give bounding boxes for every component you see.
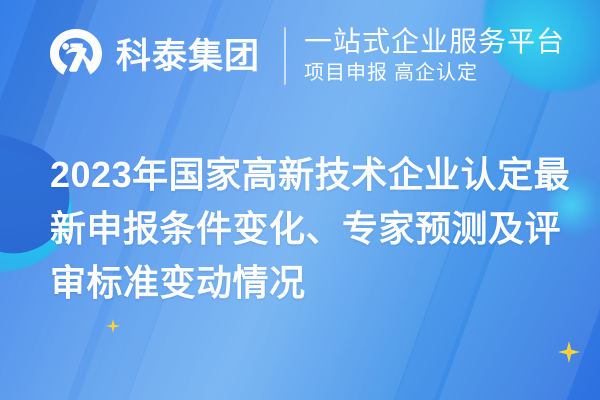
headline-line-3: 审标准变动情况 [50,256,570,310]
headline-line-1: 2023年国家高新技术企业认定最 [50,148,570,202]
tagline-sub: 项目申报 高企认定 [304,61,565,86]
promo-banner: 科泰集团 一站式企业服务平台 项目申报 高企认定 2023年国家高新技术企业认定… [0,0,600,400]
tagline-group: 一站式企业服务平台 项目申报 高企认定 [304,26,565,85]
header-divider [284,27,286,85]
banner-header: 科泰集团 一站式企业服务平台 项目申报 高企认定 [46,26,565,86]
sparkle-star-icon [558,341,580,363]
tagline-main: 一站式企业服务平台 [304,26,565,57]
headline-line-2: 新申报条件变化、专家预测及评 [50,202,570,256]
brand-name: 科泰集团 [116,39,260,74]
company-logo-icon [46,26,106,86]
sparkle-star-icon [106,319,120,333]
headline-block: 2023年国家高新技术企业认定最 新申报条件变化、专家预测及评 审标准变动情况 [50,148,570,310]
